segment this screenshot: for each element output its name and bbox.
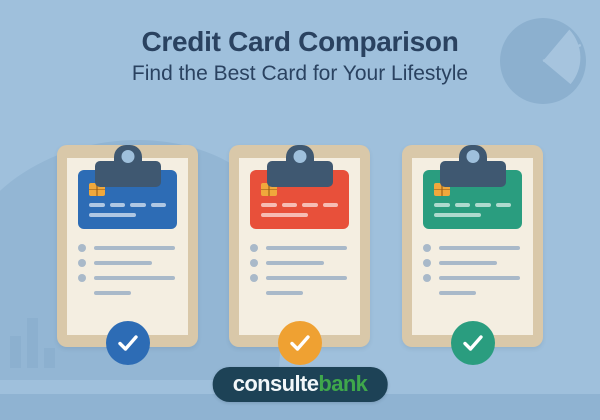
bullet-icon [423, 274, 431, 282]
check-icon [460, 330, 486, 356]
bullet-icon [250, 274, 258, 282]
list-item [78, 240, 178, 255]
bullet-spacer [78, 289, 86, 297]
list-item [423, 255, 523, 270]
card-holder-line [434, 213, 481, 217]
check-badge-blue[interactable] [106, 321, 150, 365]
page-subtitle: Find the Best Card for Your Lifestyle [0, 62, 600, 86]
feature-list [423, 240, 523, 300]
check-badge-green[interactable] [451, 321, 495, 365]
list-item [423, 240, 523, 255]
poster-header: Credit Card Comparison Find the Best Car… [0, 26, 600, 86]
poster-canvas: Credit Card Comparison Find the Best Car… [0, 0, 600, 420]
list-item [250, 270, 350, 285]
feature-list [250, 240, 350, 300]
feature-line [266, 276, 347, 280]
list-item [250, 285, 350, 300]
card-number-dashes [261, 203, 338, 207]
bullet-spacer [250, 289, 258, 297]
feature-line [266, 246, 347, 250]
feature-line [266, 261, 324, 265]
feature-line [94, 261, 152, 265]
card-number-dashes [434, 203, 511, 207]
list-item [78, 255, 178, 270]
clipboard-clip-icon [440, 145, 506, 187]
feature-line [439, 276, 520, 280]
bullet-icon [250, 259, 258, 267]
bullet-icon [78, 259, 86, 267]
feature-line [94, 276, 175, 280]
bullet-spacer [423, 289, 431, 297]
feature-list [78, 240, 178, 300]
comparison-card-red[interactable] [229, 145, 370, 347]
list-item [78, 270, 178, 285]
comparison-card-blue[interactable] [57, 145, 198, 347]
bullet-icon [423, 259, 431, 267]
feature-line [94, 246, 175, 250]
card-number-dashes [89, 203, 166, 207]
clipboard-clip-icon [95, 145, 161, 187]
bullet-icon [423, 244, 431, 252]
comparison-card-green[interactable] [402, 145, 543, 347]
check-badge-orange[interactable] [278, 321, 322, 365]
page-title: Credit Card Comparison [0, 26, 600, 58]
brand-logo[interactable]: consultebank [213, 367, 388, 402]
feature-line [439, 246, 520, 250]
card-holder-line [89, 213, 136, 217]
check-icon [287, 330, 313, 356]
bullet-icon [78, 244, 86, 252]
list-item [250, 255, 350, 270]
clipboard-clip-icon [267, 145, 333, 187]
list-item [423, 285, 523, 300]
feature-line [439, 261, 497, 265]
logo-text-primary: consulte [233, 371, 319, 396]
bullet-icon [250, 244, 258, 252]
card-holder-line [261, 213, 308, 217]
list-item [423, 270, 523, 285]
list-item [78, 285, 178, 300]
list-item [250, 240, 350, 255]
card-comparison-group [0, 118, 600, 363]
feature-line [266, 291, 303, 295]
feature-line [94, 291, 131, 295]
check-icon [115, 330, 141, 356]
feature-line [439, 291, 476, 295]
logo-text-secondary: bank [318, 371, 367, 396]
bullet-icon [78, 274, 86, 282]
